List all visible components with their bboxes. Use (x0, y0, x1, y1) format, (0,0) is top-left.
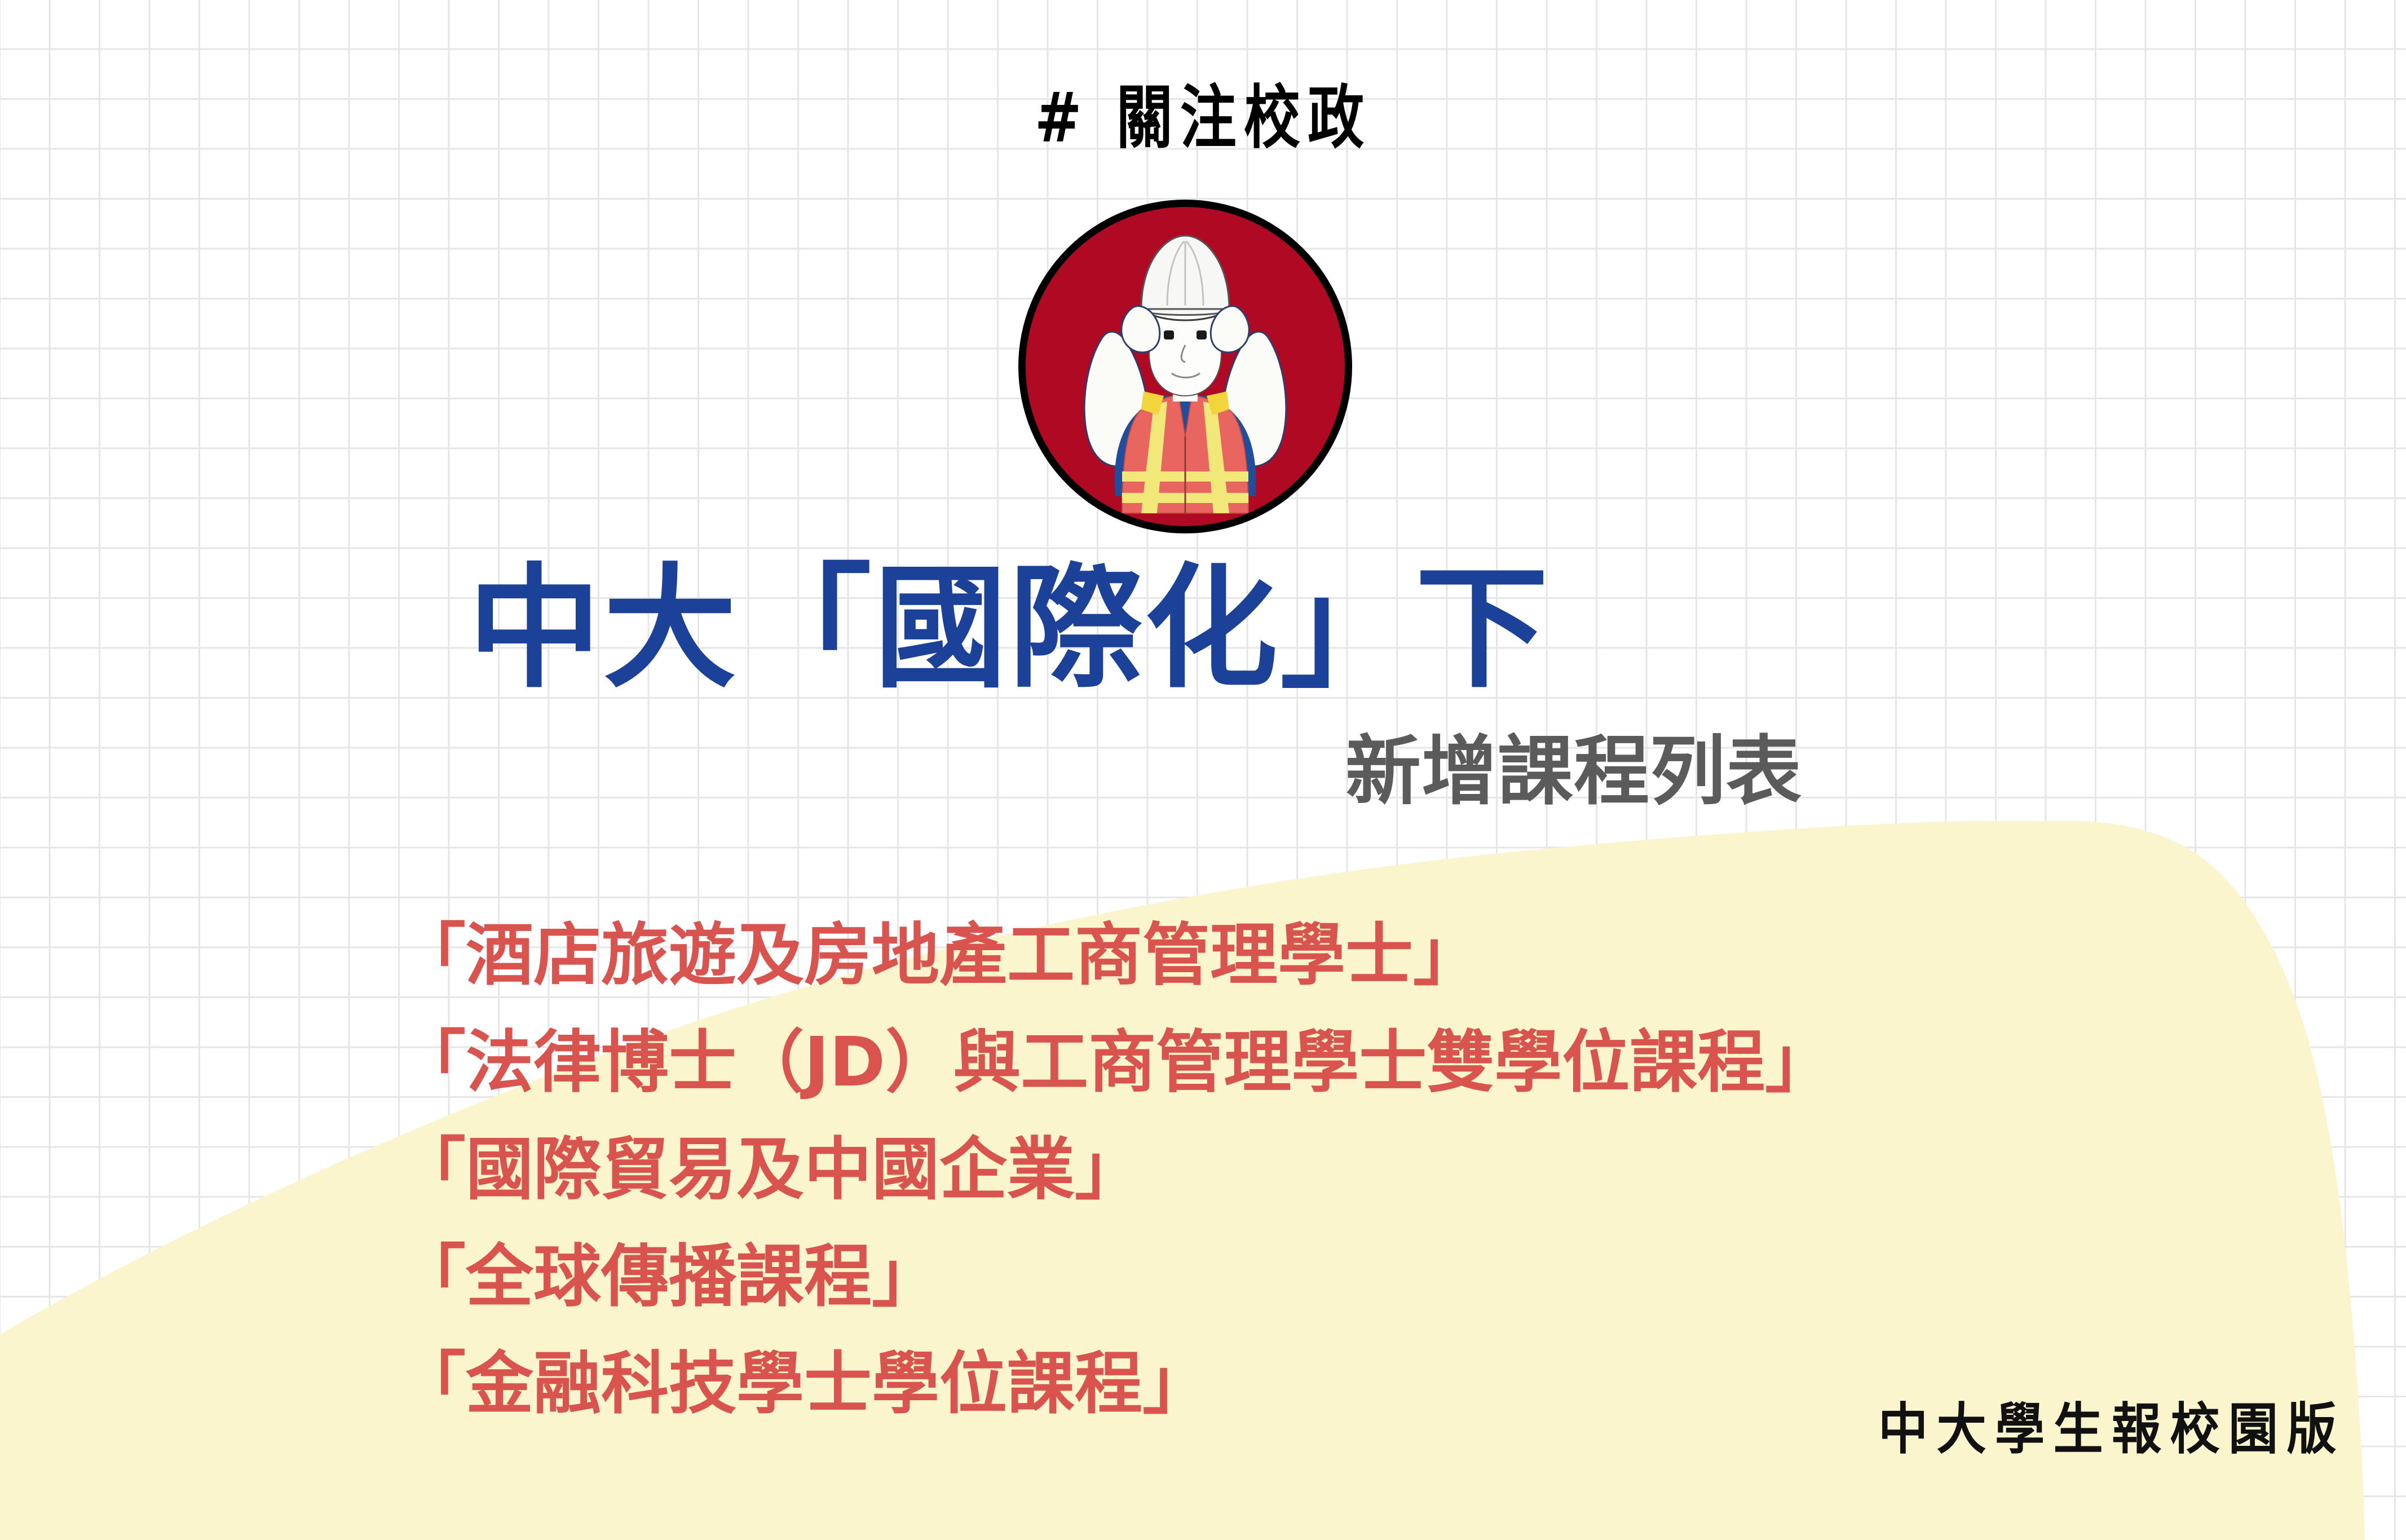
left-eye (1164, 330, 1174, 339)
page-title: 中大「國際化」下 (468, 557, 1551, 701)
list-item: 「全球傳播課程」 (398, 1224, 2315, 1331)
logo-badge (1016, 197, 1354, 536)
list-item: 「法律博士（JD）與工商管理學士雙學位課程」 (398, 1009, 2315, 1117)
right-eye (1197, 330, 1207, 339)
page-subtitle: 新增課程列表 (1345, 731, 1802, 813)
poster-canvas: # 關注校政 (0, 0, 2406, 1540)
list-item: 「酒店旅遊及房地產工商管理學士」 (398, 902, 2315, 1009)
list-item: 「國際貿易及中國企業」 (398, 1117, 2315, 1224)
publication-credit: 中大學生報校園版 (1878, 1402, 2345, 1457)
hashtag-label: # 關注校政 (217, 83, 2189, 152)
course-list: 「酒店旅遊及房地產工商管理學士」 「法律博士（JD）與工商管理學士雙學位課程」 … (398, 902, 2315, 1438)
